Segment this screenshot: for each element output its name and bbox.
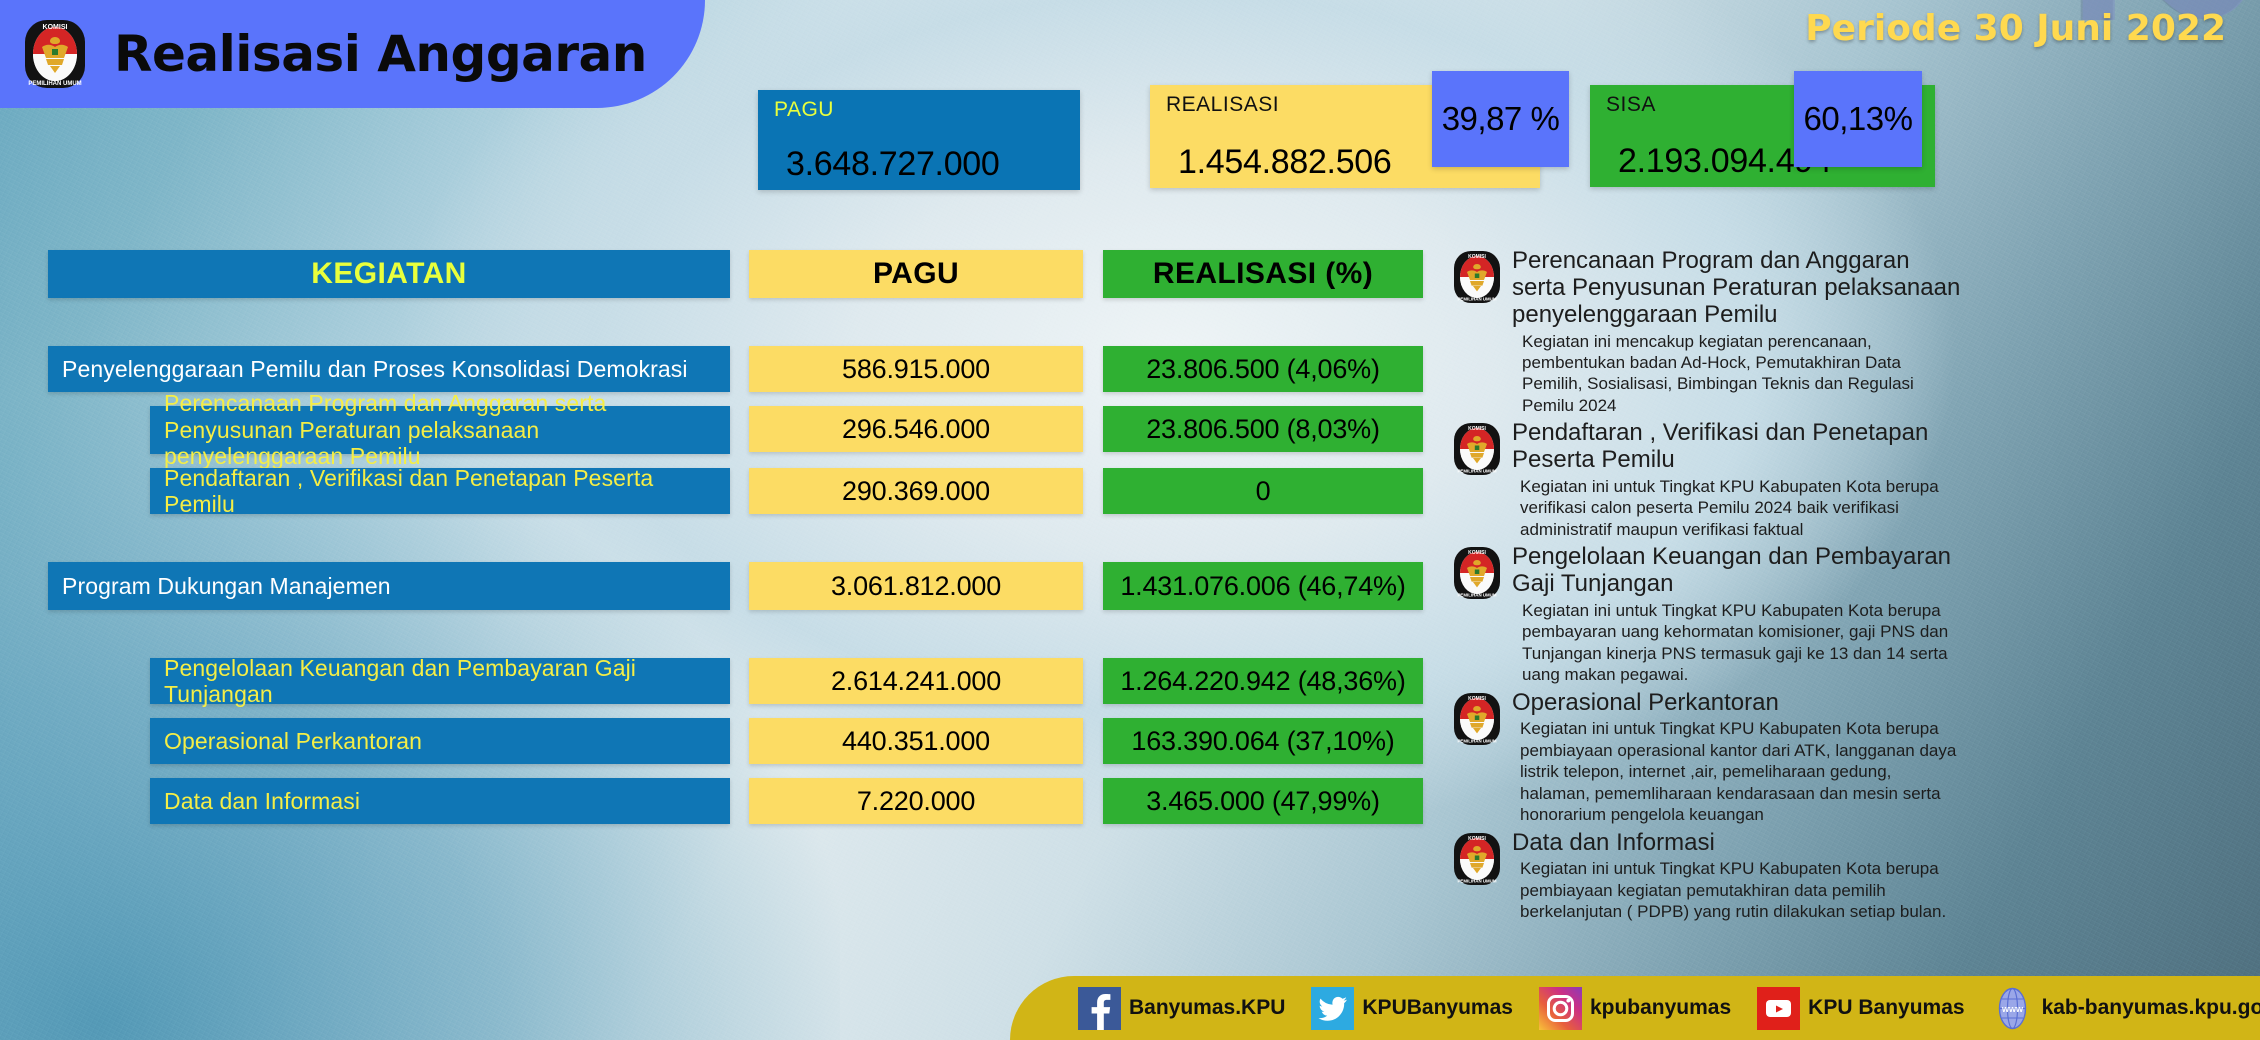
spacer	[48, 616, 1463, 658]
row-kegiatan: Data dan Informasi	[150, 778, 730, 824]
svg-text:KOMISI: KOMISI	[1468, 550, 1486, 556]
summary-realisasi-percent-value: 39,87 %	[1432, 100, 1569, 138]
description-text: Kegiatan ini untuk Tingkat KPU Kabupaten…	[1512, 476, 1962, 540]
row-realisasi: 0	[1103, 468, 1423, 514]
facebook-icon[interactable]	[1078, 987, 1121, 1030]
svg-text:PEMILIHAN UMUM: PEMILIHAN UMUM	[1457, 878, 1496, 883]
table-row: Perencanaan Program dan Anggaran serta P…	[48, 406, 1463, 454]
table-row: Pengelolaan Keuangan dan Pembayaran Gaji…	[48, 658, 1463, 704]
period-label: Periode 30 Juni 2022	[1805, 8, 2226, 49]
description-title: Pengelolaan Keuangan dan Pembayaran Gaji…	[1512, 544, 1962, 598]
description-text: Kegiatan ini mencakup kegiatan perencana…	[1512, 331, 1962, 417]
social-facebook[interactable]: Banyumas.KPU	[1078, 987, 1285, 1030]
budget-table: KEGIATAN PAGU REALISASI (%) Penyelenggar…	[48, 250, 1463, 830]
summary-pagu: PAGU 3.648.727.000	[758, 90, 1080, 190]
description-title: Pendaftaran , Verifikasi dan Penetapan P…	[1512, 420, 1962, 474]
svg-text:KOMISI: KOMISI	[1468, 254, 1486, 260]
row-realisasi: 23.806.500 (8,03%)	[1103, 406, 1423, 452]
description-body: Operasional Perkantoran Kegiatan ini unt…	[1512, 690, 1962, 826]
table-row: Data dan Informasi 7.220.000 3.465.000 (…	[48, 778, 1463, 824]
table-row: Program Dukungan Manajemen 3.061.812.000…	[48, 562, 1463, 610]
instagram-icon[interactable]	[1539, 987, 1582, 1030]
row-kegiatan: Program Dukungan Manajemen	[48, 562, 730, 610]
description-text: Kegiatan ini untuk Tingkat KPU Kabupaten…	[1512, 600, 1962, 686]
row-kegiatan: Pengelolaan Keuangan dan Pembayaran Gaji…	[150, 658, 730, 704]
description-item: KOMISI PEMILIHAN UMUM Perencanaan Progra…	[1452, 248, 1962, 416]
row-kegiatan: Pendaftaran , Verifikasi dan Penetapan P…	[150, 468, 730, 514]
row-kegiatan: Perencanaan Program dan Anggaran serta P…	[150, 406, 730, 454]
page-title: Realisasi Anggaran	[114, 25, 647, 83]
summary-realisasi-label: REALISASI	[1166, 93, 1279, 117]
row-pagu: 296.546.000	[749, 406, 1083, 452]
svg-text:PEMILIHAN UMUM: PEMILIHAN UMUM	[1457, 593, 1496, 598]
svg-text:KOMISI: KOMISI	[43, 24, 68, 31]
description-text: Kegiatan ini untuk Tingkat KPU Kabupaten…	[1512, 858, 1962, 922]
table-row: Pendaftaran , Verifikasi dan Penetapan P…	[48, 468, 1463, 514]
header-banner: KOMISI PEMILIHAN UMUM Realisasi Anggaran	[0, 0, 705, 108]
spacer	[48, 770, 1463, 778]
kpu-logo-icon: KOMISI PEMILIHAN UMUM	[1452, 692, 1502, 746]
row-pagu: 7.220.000	[749, 778, 1083, 824]
description-item: KOMISI PEMILIHAN UMUM Pengelolaan Keuang…	[1452, 544, 1962, 685]
description-item: KOMISI PEMILIHAN UMUM Data dan Informasi…	[1452, 830, 1962, 923]
row-realisasi: 1.264.220.942 (48,36%)	[1103, 658, 1423, 704]
row-pagu: 3.061.812.000	[749, 562, 1083, 610]
social-label: kpubanyumas	[1590, 996, 1731, 1020]
summary-boxes: PAGU 3.648.727.000 REALISASI 1.454.882.5…	[758, 85, 1938, 195]
social-label: KPU Banyumas	[1808, 996, 1964, 1020]
description-body: Pengelolaan Keuangan dan Pembayaran Gaji…	[1512, 544, 1962, 685]
description-title: Data dan Informasi	[1512, 830, 1962, 857]
row-realisasi: 1.431.076.006 (46,74%)	[1103, 562, 1423, 610]
row-pagu: 290.369.000	[749, 468, 1083, 514]
summary-realisasi-value: 1.454.882.506	[1178, 143, 1392, 182]
table-header-realisasi: REALISASI (%)	[1103, 250, 1423, 298]
description-title: Operasional Perkantoran	[1512, 690, 1962, 717]
kpu-logo-icon: KOMISI PEMILIHAN UMUM	[1452, 832, 1502, 886]
summary-sisa-label: SISA	[1606, 93, 1656, 117]
row-pagu: 440.351.000	[749, 718, 1083, 764]
row-realisasi: 23.806.500 (4,06%)	[1103, 346, 1423, 392]
description-item: KOMISI PEMILIHAN UMUM Pendaftaran , Veri…	[1452, 420, 1962, 540]
svg-text:PEMILIHAN UMUM: PEMILIHAN UMUM	[1457, 297, 1496, 302]
social-website[interactable]: www kab-banyumas.kpu.go.id	[1991, 987, 2260, 1030]
row-pagu: 586.915.000	[749, 346, 1083, 392]
summary-pagu-value: 3.648.727.000	[786, 145, 1000, 184]
row-kegiatan: Operasional Perkantoran	[150, 718, 730, 764]
svg-text:PEMILIHAN UMUM: PEMILIHAN UMUM	[28, 81, 81, 87]
spacer	[48, 710, 1463, 718]
kpu-logo-icon: KOMISI PEMILIHAN UMUM	[22, 18, 88, 90]
description-text: Kegiatan ini untuk Tingkat KPU Kabupaten…	[1512, 718, 1962, 825]
social-label: KPUBanyumas	[1362, 996, 1513, 1020]
svg-text:KOMISI: KOMISI	[1468, 696, 1486, 702]
kpu-logo-icon: KOMISI PEMILIHAN UMUM	[1452, 422, 1502, 476]
table-header-row: KEGIATAN PAGU REALISASI (%)	[48, 250, 1463, 298]
infographic-canvas: 2022 KOMISI PEMILIHAN UMUM Realisasi Ang…	[0, 0, 2260, 1040]
svg-text:KOMISI: KOMISI	[1468, 836, 1486, 842]
social-instagram[interactable]: kpubanyumas	[1539, 987, 1731, 1030]
spacer	[48, 520, 1463, 562]
social-footer: Banyumas.KPU KPUBanyumas	[1010, 976, 2260, 1040]
twitter-icon[interactable]	[1311, 987, 1354, 1030]
summary-realisasi-percent: 39,87 %	[1432, 71, 1569, 167]
description-body: Perencanaan Program dan Anggaran serta P…	[1512, 248, 1962, 416]
description-item: KOMISI PEMILIHAN UMUM Operasional Perkan…	[1452, 690, 1962, 826]
summary-sisa-percent-value: 60,13%	[1794, 100, 1922, 138]
social-label: kab-banyumas.kpu.go.id	[2042, 996, 2260, 1020]
social-label: Banyumas.KPU	[1129, 996, 1285, 1020]
row-realisasi: 3.465.000 (47,99%)	[1103, 778, 1423, 824]
description-body: Pendaftaran , Verifikasi dan Penetapan P…	[1512, 420, 1962, 540]
table-row: Operasional Perkantoran 440.351.000 163.…	[48, 718, 1463, 764]
kpu-logo-icon: KOMISI PEMILIHAN UMUM	[1452, 546, 1502, 600]
summary-pagu-label: PAGU	[774, 98, 834, 122]
kpu-logo-icon: KOMISI PEMILIHAN UMUM	[1452, 250, 1502, 304]
table-header-kegiatan: KEGIATAN	[48, 250, 730, 298]
row-realisasi: 163.390.064 (37,10%)	[1103, 718, 1423, 764]
table-row: Penyelenggaraan Pemilu dan Proses Konsol…	[48, 346, 1463, 392]
table-header-pagu: PAGU	[749, 250, 1083, 298]
spacer	[48, 304, 1463, 346]
svg-text:PEMILIHAN UMUM: PEMILIHAN UMUM	[1457, 469, 1496, 474]
description-body: Data dan Informasi Kegiatan ini untuk Ti…	[1512, 830, 1962, 923]
summary-sisa-percent: 60,13%	[1794, 71, 1922, 167]
description-title: Perencanaan Program dan Anggaran serta P…	[1512, 248, 1962, 329]
social-youtube[interactable]: KPU Banyumas	[1757, 987, 1964, 1030]
svg-text:www: www	[2001, 1004, 2024, 1014]
description-list: KOMISI PEMILIHAN UMUM Perencanaan Progra…	[1452, 248, 1962, 927]
row-kegiatan: Penyelenggaraan Pemilu dan Proses Konsol…	[48, 346, 730, 392]
svg-text:PEMILIHAN UMUM: PEMILIHAN UMUM	[1457, 738, 1496, 743]
youtube-icon[interactable]	[1757, 987, 1800, 1030]
svg-text:KOMISI: KOMISI	[1468, 426, 1486, 432]
row-pagu: 2.614.241.000	[749, 658, 1083, 704]
social-twitter[interactable]: KPUBanyumas	[1311, 987, 1513, 1030]
website-icon[interactable]: www	[1991, 987, 2034, 1030]
